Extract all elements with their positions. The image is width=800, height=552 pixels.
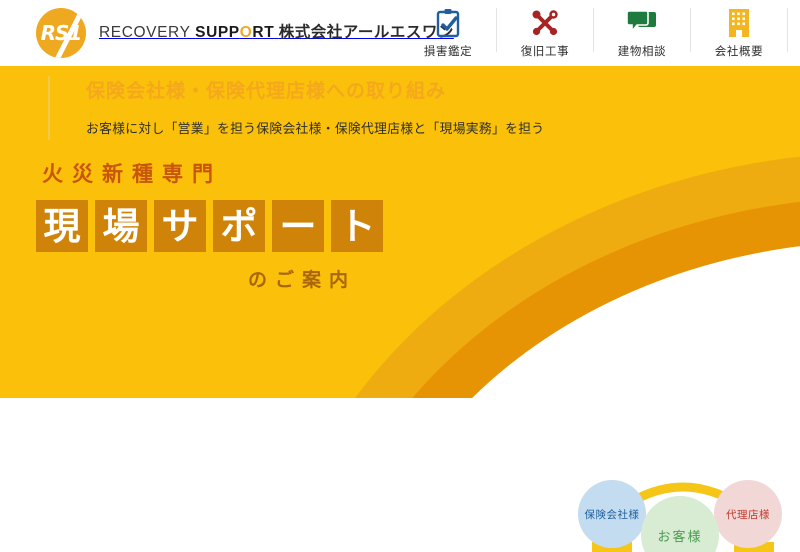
hero-title-char: ー (272, 200, 324, 252)
brand-en-recovery: RECOVERY (99, 24, 195, 41)
diagram-circle-insurer: 保険会社様 (578, 480, 646, 548)
hero-title-char: ポ (213, 200, 265, 252)
brand-en-rt: RT (252, 24, 274, 41)
nav-label-kaisha-gaiyo: 会社概要 (715, 43, 763, 59)
nav-item-fukkyu-koji[interactable]: 復旧工事 (497, 0, 593, 66)
site-header: RS1 RECOVERY SUPPORT 株式会社アールエスワン 損害鑑定 (0, 0, 800, 66)
hero-arc-band-3 (351, 241, 800, 398)
insurer-initiative-section: 保険会社様・保険代理店様への取り組み お客様に対し「営業」を担う保険会社様・保険… (48, 76, 578, 140)
hero-title-char: 現 (36, 200, 88, 252)
nav-item-songai-kantei[interactable]: 損害鑑定 (400, 0, 496, 66)
brand-en-o-highlight: O (240, 24, 253, 41)
rs1-circle-logo-icon: RS1 (36, 8, 86, 58)
hero-subtitle: のご案内 (36, 265, 362, 292)
diagram-circle-agent: 代理店様 (714, 480, 782, 548)
nav-divider (787, 8, 788, 52)
nav-item-tatemono-sodan[interactable]: 建物相談 (594, 0, 690, 66)
nav-label-fukkyu-koji: 復旧工事 (521, 43, 569, 59)
hero-eyebrow: 火災新種専門 (42, 158, 383, 188)
hero-title-char: サ (154, 200, 206, 252)
clipboard-check-icon (431, 7, 465, 39)
hero-title: 現 場 サ ポ ー ト (36, 200, 383, 252)
site-logo-link[interactable]: RS1 RECOVERY SUPPORT 株式会社アールエスワン (36, 8, 454, 58)
speech-bubbles-icon (625, 7, 659, 39)
stakeholder-diagram: 保険会社様 代理店様 お客様 (566, 462, 800, 552)
hero-copy: 火災新種専門 現 場 サ ポ ー ト のご案内 (36, 158, 383, 292)
hero-title-char: ト (331, 200, 383, 252)
wrench-screwdriver-icon (528, 7, 562, 39)
section-title: 保険会社様・保険代理店様への取り組み (86, 76, 578, 103)
section-body-text: お客様に対し「営業」を担う保険会社様・保険代理店様と「現場実務」を担う (86, 120, 578, 140)
office-building-icon (722, 7, 756, 39)
nav-label-songai-kantei: 損害鑑定 (424, 43, 472, 59)
brand-en-supp: SUPP (195, 24, 240, 41)
brand-name-en: RECOVERY SUPPORT (99, 24, 274, 41)
nav-label-tatemono-sodan: 建物相談 (618, 43, 666, 59)
nav-item-kaisha-gaiyo[interactable]: 会社概要 (691, 0, 787, 66)
main-navigation: 損害鑑定 復旧工事 (400, 0, 788, 66)
hero-title-char: 場 (95, 200, 147, 252)
